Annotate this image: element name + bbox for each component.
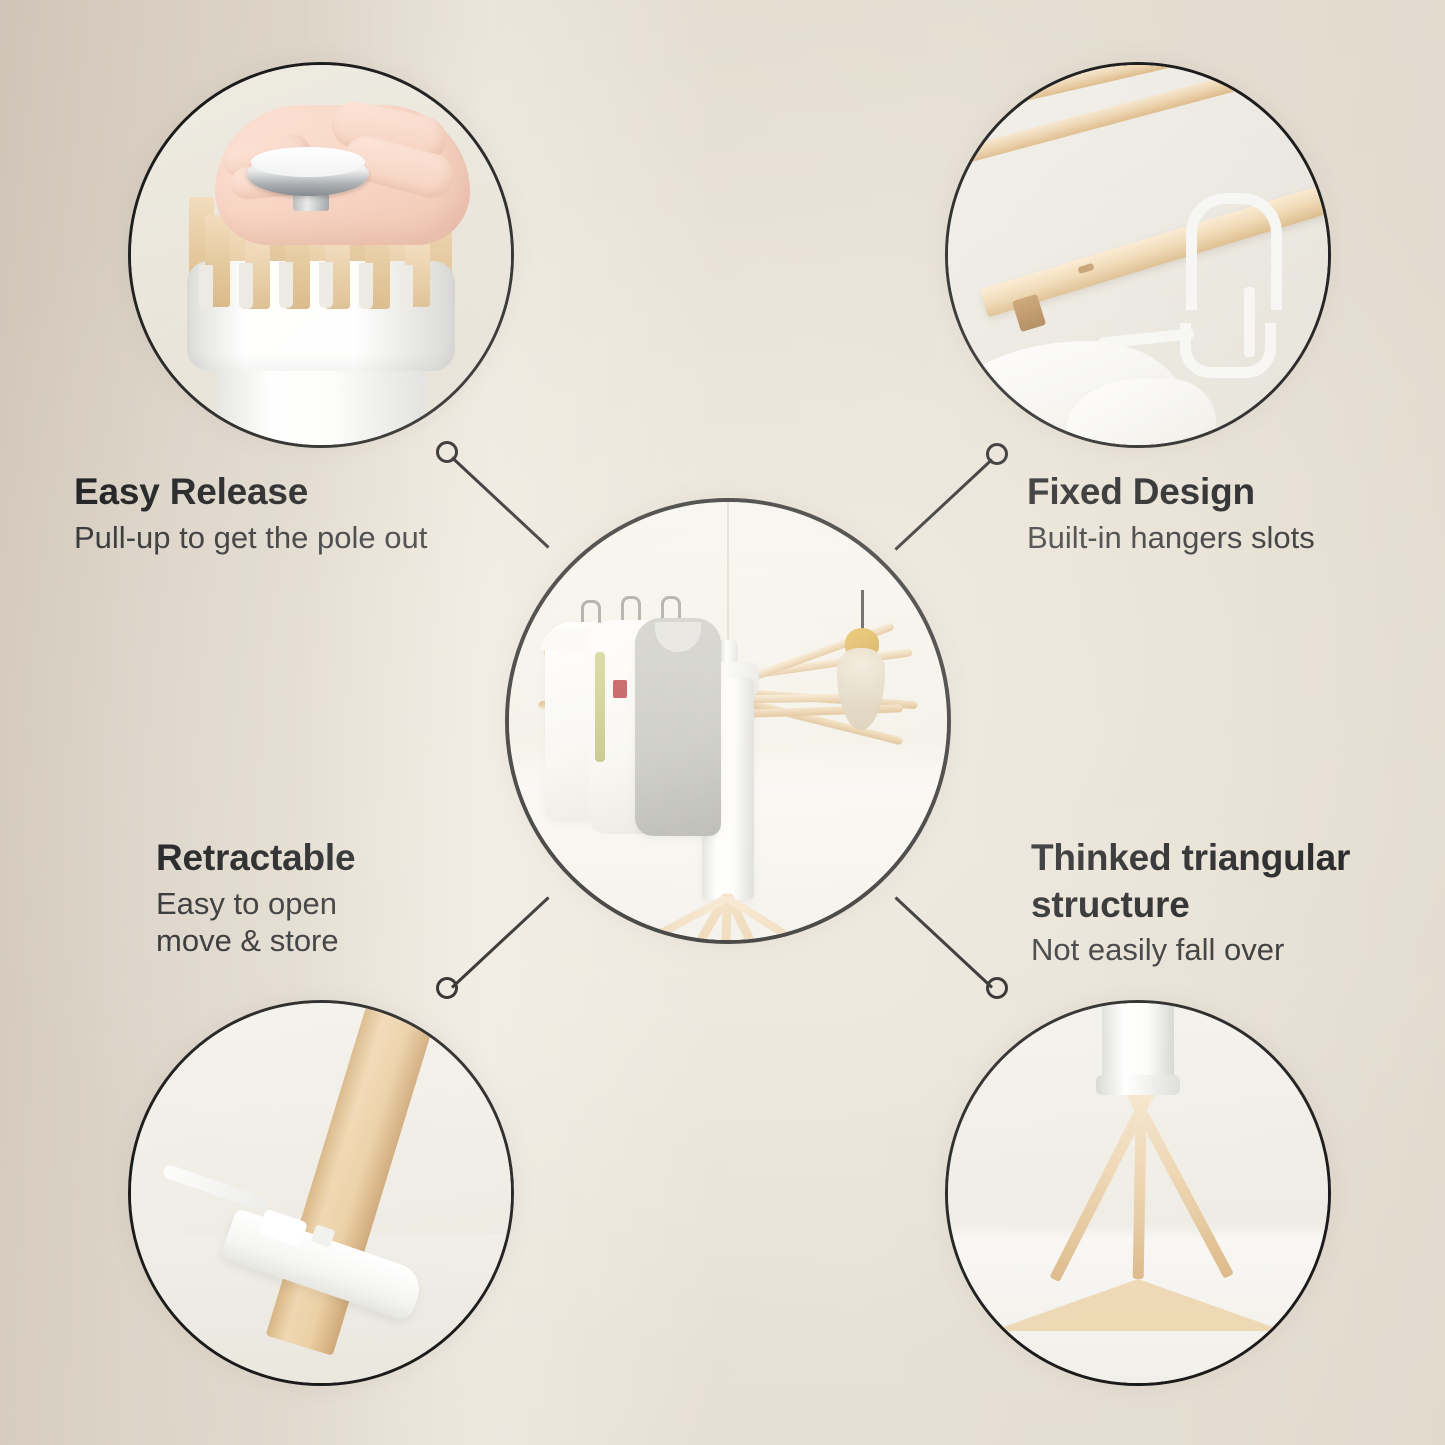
retractable-subtitle-line-1: Easy to open bbox=[156, 885, 536, 922]
easy-release-subtitle: Pull-up to get the pole out bbox=[74, 519, 504, 556]
easy-release-title: Easy Release bbox=[74, 472, 504, 513]
label-easy-release: Easy Release Pull-up to get the pole out bbox=[74, 472, 504, 556]
triangular-structure-title-line-1: Thinked triangular bbox=[1031, 838, 1431, 879]
label-fixed-design: Fixed Design Built-in hangers slots bbox=[1027, 472, 1427, 556]
product-hero-photo bbox=[505, 498, 951, 944]
connector-node-fixed-design bbox=[986, 443, 1008, 465]
fixed-design-photo bbox=[945, 62, 1331, 448]
triangular-structure-title-line-2: structure bbox=[1031, 885, 1431, 926]
triangular-structure-photo bbox=[945, 1000, 1331, 1386]
fixed-design-subtitle: Built-in hangers slots bbox=[1027, 519, 1427, 556]
connector-node-retractable bbox=[436, 977, 458, 999]
retractable-title: Retractable bbox=[156, 838, 536, 879]
infographic-canvas: Easy Release Pull-up to get the pole out… bbox=[0, 0, 1445, 1445]
label-retractable: Retractable Easy to open move & store bbox=[156, 838, 536, 959]
triangular-structure-subtitle: Not easily fall over bbox=[1031, 931, 1431, 968]
fixed-design-title: Fixed Design bbox=[1027, 472, 1427, 513]
easy-release-photo bbox=[128, 62, 514, 448]
retractable-photo bbox=[128, 1000, 514, 1386]
label-triangular-structure: Thinked triangular structure Not easily … bbox=[1031, 838, 1431, 969]
hanger-hook-icon bbox=[1186, 193, 1282, 310]
connector-node-triangular-structure bbox=[986, 977, 1008, 999]
retractable-subtitle-line-2: move & store bbox=[156, 922, 536, 959]
